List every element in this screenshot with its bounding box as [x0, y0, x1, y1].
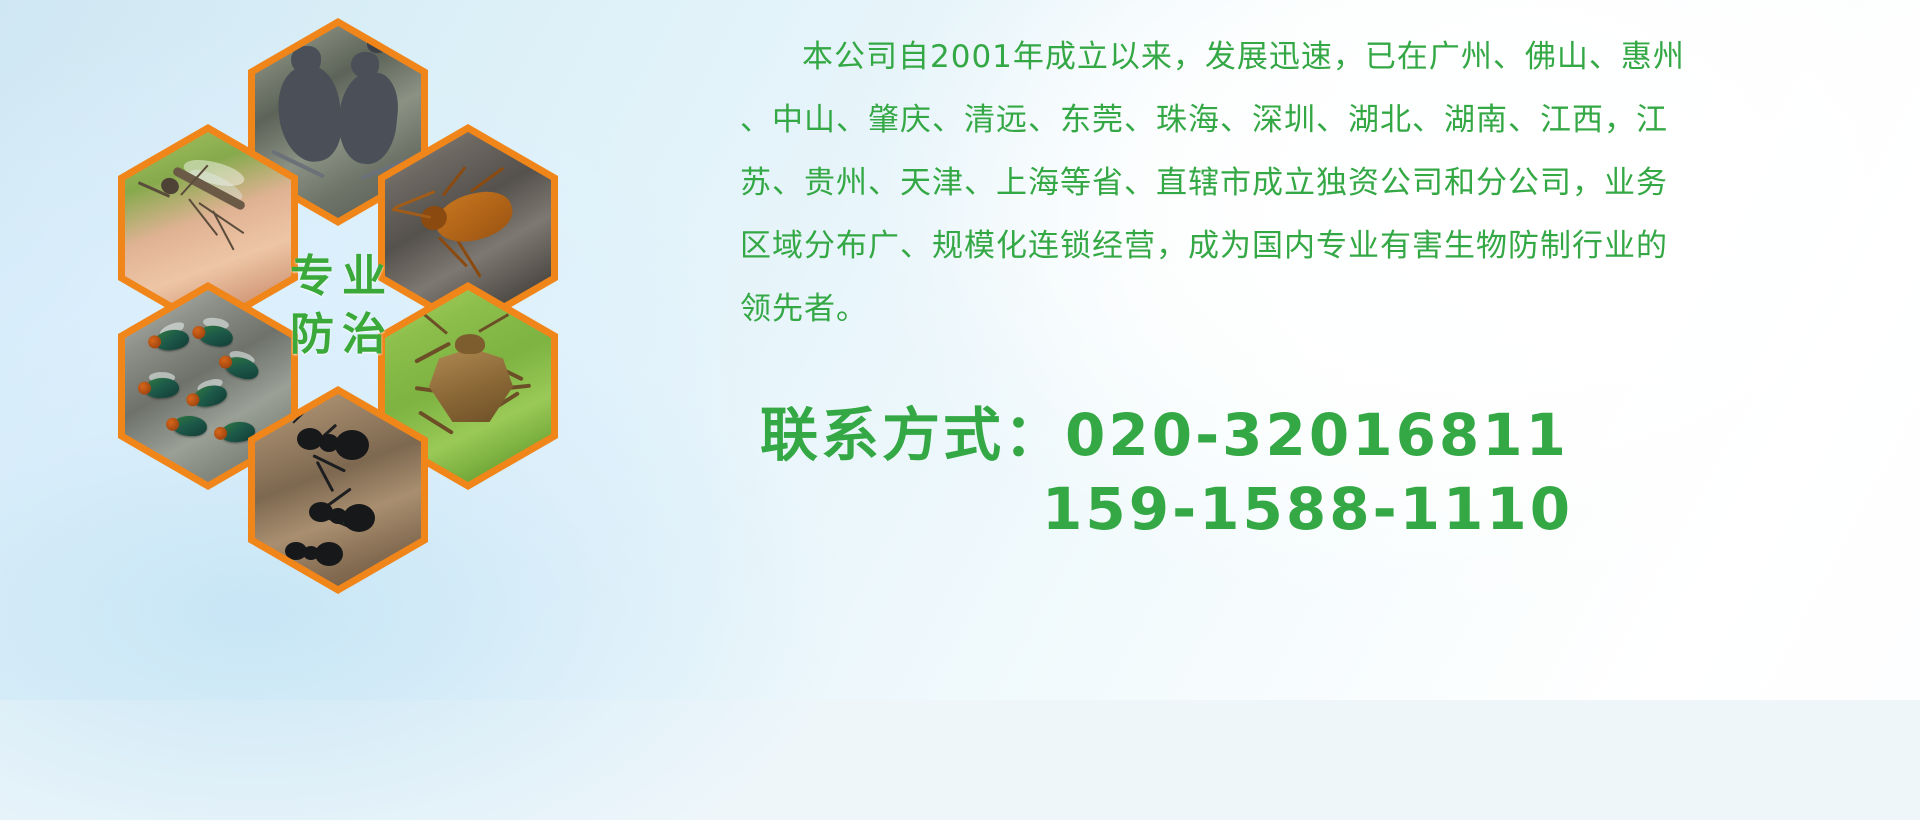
intro-line-4: 区域分布广、规模化连锁经营，成为国内专业有害生物防制行业的 [740, 223, 1840, 270]
company-intro-text: 本公司自2001年成立以来，发展迅速，已在广州、佛山、惠州 、中山、肇庆、清远、… [740, 34, 1840, 350]
ants-artwork [255, 394, 421, 586]
intro-line-2: 、中山、肇庆、清远、东莞、珠海、深圳、湖北、湖南、江西，江 [740, 97, 1840, 144]
ants-photo-frame [255, 394, 421, 586]
contact-mobile-line[interactable]: 159-1588-1110 [760, 472, 1860, 546]
hex-label-line1: 专业 [282, 255, 394, 299]
hex-label-line2: 防治 [282, 313, 394, 357]
intro-line-5: 领先者。 [740, 286, 1840, 333]
intro-line-1: 本公司自2001年成立以来，发展迅速，已在广州、佛山、惠州 [740, 34, 1840, 81]
intro-line-3: 苏、贵州、天津、上海等省、直辖市成立独资公司和分公司，业务 [740, 160, 1840, 207]
contact-phone-line[interactable]: 联系方式：020-32016811 [760, 398, 1860, 472]
hex-photo-cluster: 专业 防治 [90, 14, 590, 554]
promo-banner: 专业 防治 本公司自2001年成立以来，发展迅速，已在广州、佛山、惠州 、中山、… [0, 0, 1920, 700]
contact-block: 联系方式：020-32016811 159-1588-1110 [760, 398, 1860, 546]
